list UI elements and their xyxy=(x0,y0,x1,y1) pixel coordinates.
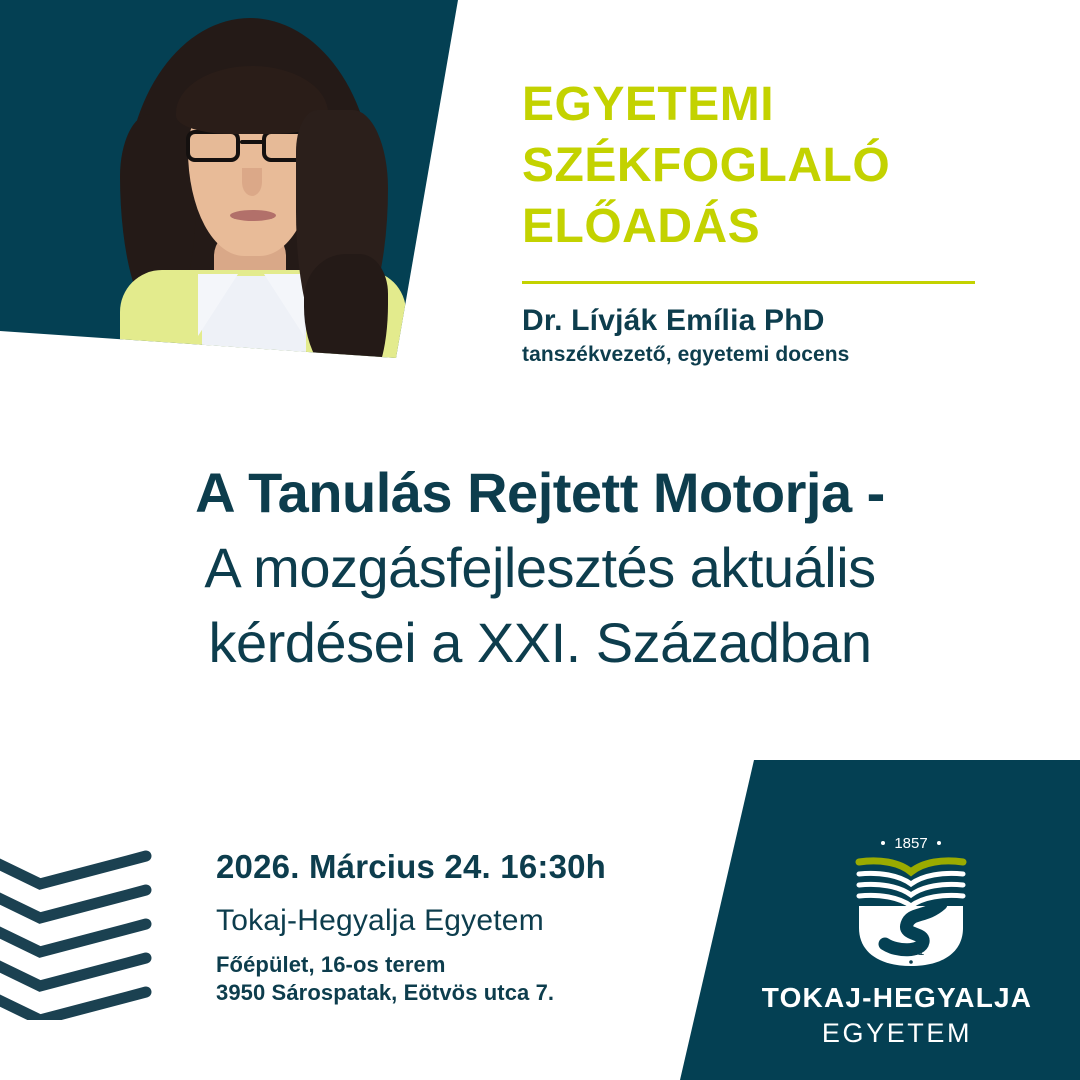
speaker-name: Dr. Lívják Emília PhD xyxy=(522,304,992,338)
glasses-lens-left xyxy=(186,130,240,162)
lecture-title-line-3: kérdései a XXI. Században xyxy=(0,605,1080,680)
event-address: 3950 Sárospatak, Eötvös utca 7. xyxy=(216,980,606,1006)
portrait-mouth xyxy=(230,210,276,221)
portrait-collar-right xyxy=(264,274,304,336)
portrait-hair-front-right xyxy=(304,254,388,365)
glasses-bridge xyxy=(240,140,264,144)
lecture-title-line-2: A mozgásfejlesztés aktuális xyxy=(0,530,1080,605)
chevron-curve-1 xyxy=(0,855,146,884)
portrait-block xyxy=(0,0,470,365)
chevron-decoration xyxy=(0,848,161,1020)
event-details: 2026. Március 24. 16:30h Tokaj-Hegyalja … xyxy=(216,848,606,1006)
crest-book-top-line xyxy=(859,861,963,872)
header-section: EGYETEMI SZÉKFOGLALÓ ELŐADÁS Dr. Lívják … xyxy=(522,74,992,367)
university-name-bottom: EGYETEM xyxy=(714,1018,1080,1049)
university-crest-icon: 1857 2021 xyxy=(845,832,977,972)
event-room: Főépület, 16-os terem xyxy=(216,952,606,978)
chevron-curve-3 xyxy=(0,923,146,952)
event-type-line-3: ELŐADÁS xyxy=(522,196,992,257)
header-divider xyxy=(522,281,975,284)
crest-refounded-year: 2021 xyxy=(898,944,925,958)
lecture-title: A Tanulás Rejtett Motorja - A mozgásfejl… xyxy=(0,455,1080,680)
portrait-collar-left xyxy=(198,274,238,336)
speaker-portrait-image xyxy=(118,18,408,365)
speaker-role: tanszékvezető, egyetemi docens xyxy=(522,343,992,367)
portrait-nose xyxy=(242,168,262,196)
chevron-curve-2 xyxy=(0,889,146,918)
lecture-title-line-1: A Tanulás Rejtett Motorja - xyxy=(0,455,1080,530)
logo-panel: 1857 2021 TOKA xyxy=(680,760,1080,1080)
event-date: 2026. Március 24. 16:30h xyxy=(216,848,606,886)
event-type-heading: EGYETEMI SZÉKFOGLALÓ ELŐADÁS xyxy=(522,74,992,257)
university-name-top: TOKAJ-HEGYALJA xyxy=(714,982,1080,1014)
university-wordmark: TOKAJ-HEGYALJA EGYETEM xyxy=(680,982,1080,1049)
chevron-curve-5 xyxy=(0,991,146,1020)
event-type-line-1: EGYETEMI xyxy=(522,74,992,135)
event-type-line-2: SZÉKFOGLALÓ xyxy=(522,135,992,196)
event-venue: Tokaj-Hegyalja Egyetem xyxy=(216,904,606,938)
crest-founded-year: 1857 xyxy=(894,835,927,852)
chevron-curve-4 xyxy=(0,957,146,986)
